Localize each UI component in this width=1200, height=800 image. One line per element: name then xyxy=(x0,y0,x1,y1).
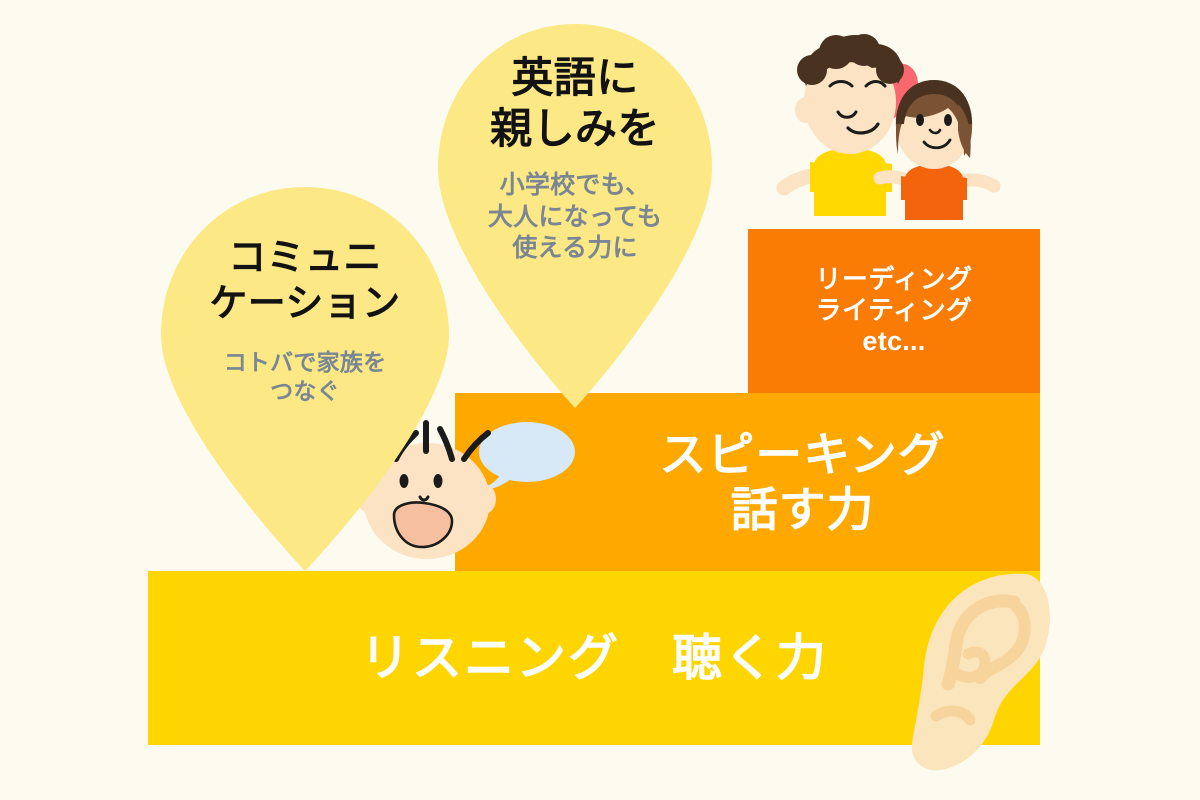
listening-line-1: リスニング 聴く力 xyxy=(360,629,828,688)
communication-sub-line-1: コトバで家族を xyxy=(145,348,465,377)
communication-title: コミュニ ケーション xyxy=(145,235,465,328)
communication-balloon: コミュニ ケーション コトバで家族を つなぐ xyxy=(145,183,465,571)
english-title: 英語に 親しみを xyxy=(430,52,720,154)
listening-bar: リスニング 聴く力 xyxy=(148,571,1040,745)
speaking-line-1: スピーキング xyxy=(659,427,945,482)
english-sub-line-2: 大人になっても xyxy=(430,202,720,234)
infographic-canvas: リーディング ライティング etc... スピーキング 話す力 リスニング 聴く… xyxy=(0,0,1200,800)
reading-etc-label: etc... xyxy=(862,326,925,358)
english-title-line-1: 英語に xyxy=(430,52,720,103)
reading-writing-bar: リーディング ライティング etc... xyxy=(748,229,1040,393)
communication-sub-line-2: つなぐ xyxy=(145,377,465,406)
english-balloon-text: 英語に 親しみを 小学校でも、 大人になっても 使える力に xyxy=(430,52,720,265)
english-sub-line-3: 使える力に xyxy=(430,233,720,265)
english-subtitle: 小学校でも、 大人になっても 使える力に xyxy=(430,170,720,265)
communication-subtitle: コトバで家族を つなぐ xyxy=(145,348,465,406)
ear-illustration xyxy=(908,560,1058,775)
two-children-with-heart-illustration xyxy=(768,24,1018,239)
communication-title-line-2: ケーション xyxy=(145,281,465,327)
communication-title-line-1: コミュニ xyxy=(145,235,465,281)
english-title-line-2: 親しみを xyxy=(430,103,720,154)
english-sub-line-1: 小学校でも、 xyxy=(430,170,720,202)
communication-balloon-text: コミュニ ケーション コトバで家族を つなぐ xyxy=(145,235,465,406)
reading-line-1: リーディング xyxy=(815,264,972,295)
speaking-line-2: 話す力 xyxy=(731,482,875,537)
english-familiarity-balloon: 英語に 親しみを 小学校でも、 大人になっても 使える力に xyxy=(430,20,720,408)
reading-line-2: ライティング xyxy=(815,295,972,326)
